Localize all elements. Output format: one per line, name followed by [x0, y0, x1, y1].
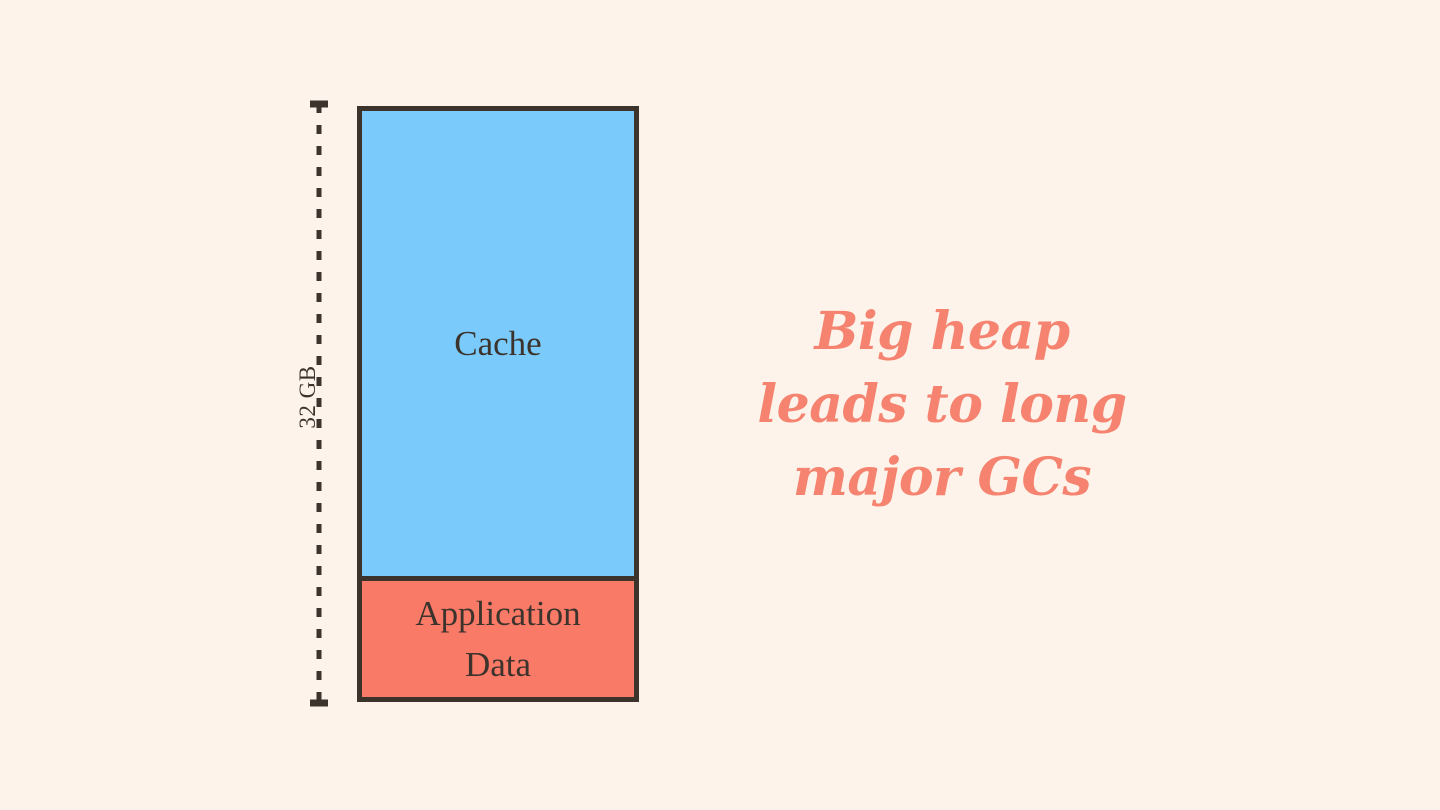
heap-segment-application-data-label: ApplicationData	[407, 588, 588, 691]
heap-segment-application-data: ApplicationData	[362, 581, 634, 697]
heap-segment-cache-label: Cache	[446, 318, 549, 369]
annotation-line-1: Big heap	[702, 296, 1182, 369]
annotation-line-2: leads to long	[702, 369, 1182, 442]
heap-size-dimension: 32 GB	[276, 96, 332, 712]
heap-segment-cache: Cache	[362, 111, 634, 581]
heap-stack: Cache ApplicationData	[357, 106, 639, 702]
application-data-label-line-2: Data	[465, 645, 531, 684]
annotation-line-3: major GCs	[702, 442, 1182, 515]
slide-canvas: 32 GB Cache ApplicationData Big heap lea…	[0, 0, 1440, 810]
application-data-label-line-1: Application	[415, 594, 580, 633]
heap-size-label: 32 GB	[295, 317, 321, 477]
annotation-text: Big heap leads to long major GCs	[702, 296, 1182, 514]
